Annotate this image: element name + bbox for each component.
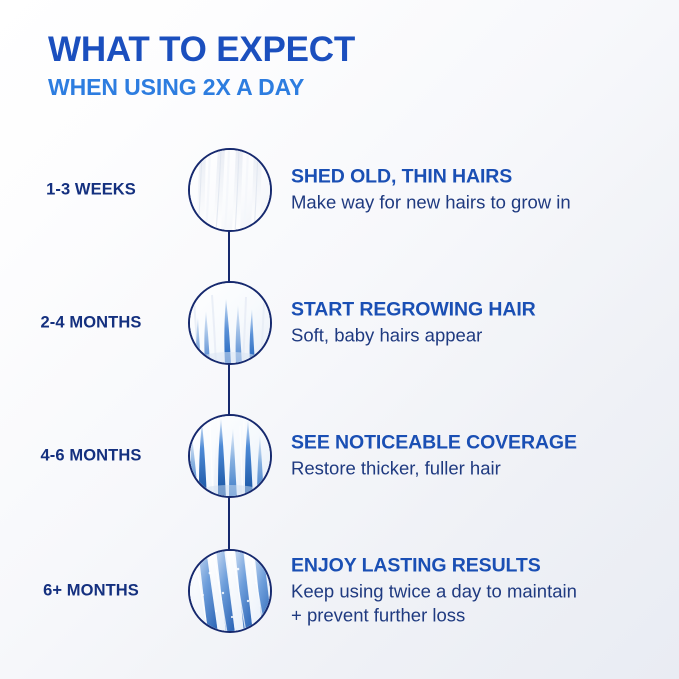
hair-closeup-sparse-white-icon [188,148,272,232]
step-heading: SEE NOTICEABLE COVERAGE [291,432,661,454]
step-image-circle [188,281,272,365]
step-heading: SHED OLD, THIN HAIRS [291,166,661,188]
header-block: WHAT TO EXPECT WHEN USING 2X A DAY [48,31,355,100]
step-time-label: 1-3 WEEKS [0,181,182,200]
step-heading: START REGROWING HAIR [291,299,661,321]
step-time-label: 6+ MONTHS [0,582,182,601]
step-body-line: Keep using twice a day to maintain [291,580,661,604]
step-copy: SHED OLD, THIN HAIRS Make way for new ha… [291,166,661,215]
step-image-circle [188,148,272,232]
step-copy: START REGROWING HAIR Soft, baby hairs ap… [291,299,661,348]
step-body-line: Make way for new hairs to grow in [291,191,661,215]
step-body-line: + prevent further loss [291,604,661,628]
timeline-spine [228,190,230,590]
step-body-line: Restore thicker, fuller hair [291,457,661,481]
step-copy: ENJOY LASTING RESULTS Keep using twice a… [291,555,661,628]
step-time-label: 2-4 MONTHS [0,314,182,333]
timeline-step: 4-6 MONTHS [0,414,679,498]
what-to-expect-infographic: WHAT TO EXPECT WHEN USING 2X A DAY 1-3 W… [0,0,679,679]
page-title: WHAT TO EXPECT [48,31,355,69]
timeline-step: 6+ MONTHS [0,549,679,633]
hair-closeup-thicker-blue-strands-icon [188,414,272,498]
step-image-circle [188,549,272,633]
timeline-step: 1-3 WEEKS [0,148,679,232]
page-subtitle: WHEN USING 2X A DAY [48,74,355,100]
timeline-step: 2-4 MONTHS [0,281,679,365]
step-copy: SEE NOTICEABLE COVERAGE Restore thicker,… [291,432,661,481]
step-heading: ENJOY LASTING RESULTS [291,555,661,577]
hair-closeup-thin-blue-strands-icon [188,281,272,365]
hair-closeup-full-dense-strands-icon [188,549,272,633]
step-time-label: 4-6 MONTHS [0,447,182,466]
step-body-line: Soft, baby hairs appear [291,324,661,348]
step-image-circle [188,414,272,498]
